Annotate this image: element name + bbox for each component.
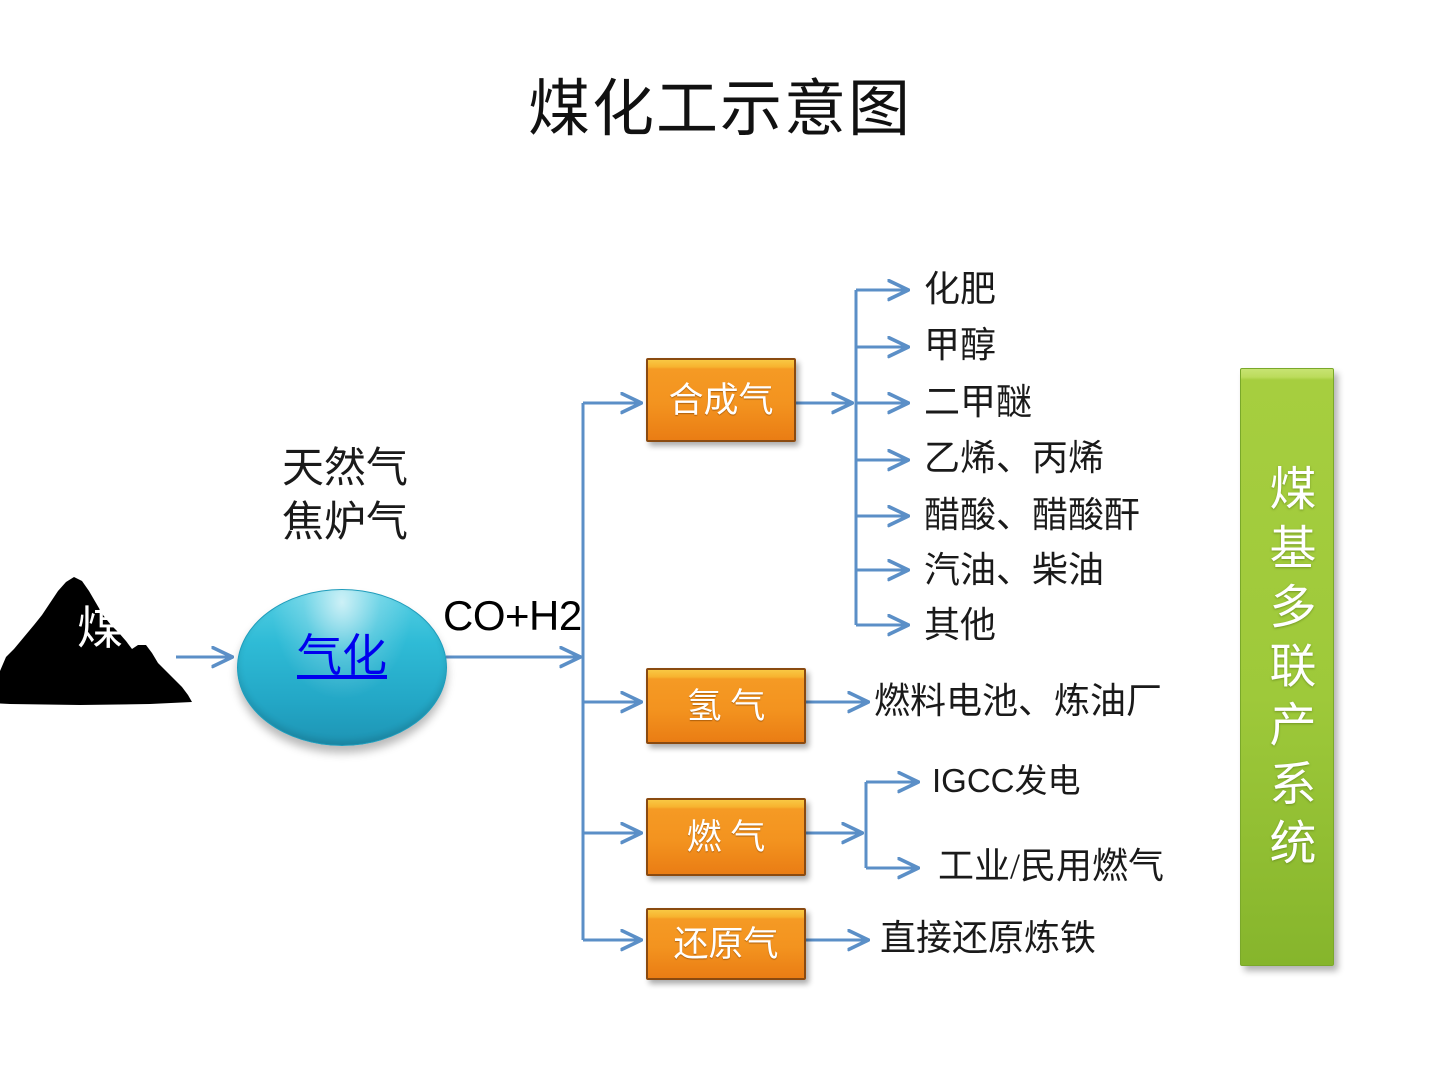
polygeneration-banner-label: 煤基多联产系统	[1264, 458, 1311, 877]
product-label-0: 化肥	[924, 271, 996, 307]
page-title: 煤化工示意图	[0, 78, 1440, 143]
polygeneration-banner: 煤基多联产系统	[1240, 368, 1334, 966]
redgas-product-label-0: 直接还原炼铁	[880, 920, 1096, 956]
feedstock-line-2: 焦炉气	[245, 497, 445, 551]
gasification-label[interactable]: 气化	[238, 634, 446, 679]
slide-canvas: 煤化工示意图	[0, 0, 1440, 1077]
product-label-4: 醋酸、醋酸酐	[924, 497, 1140, 533]
fuelgas-product-label-0: IGCC发电	[932, 764, 1081, 797]
hydrogen-product-label-0: 燃料电池、炼油厂	[874, 683, 1162, 719]
process-box-hydrogen[interactable]: 氢 气	[646, 668, 806, 744]
product-label-2: 二甲醚	[924, 384, 1032, 420]
product-label-3: 乙烯、丙烯	[924, 440, 1104, 476]
syngas-stream-label: CO+H2	[443, 592, 582, 640]
process-box-syngas-label: 合成气	[668, 383, 773, 418]
feedstock-line-1: 天然气	[245, 443, 445, 497]
fuelgas-product-label-1: 工业/民用燃气	[938, 848, 1164, 884]
process-box-syngas[interactable]: 合成气	[646, 358, 796, 442]
product-label-1: 甲醇	[924, 327, 996, 363]
process-box-fuelgas[interactable]: 燃 气	[646, 798, 806, 876]
product-label-6: 其他	[924, 607, 996, 643]
process-box-hydrogen-label: 氢 气	[687, 689, 766, 724]
process-box-fuelgas-label: 燃 气	[687, 820, 766, 855]
feedstock-note: 天然气 焦炉气	[245, 443, 445, 551]
process-box-redgas[interactable]: 还原气	[646, 908, 806, 980]
gasification-node[interactable]: 气化	[237, 589, 447, 746]
product-label-5: 汽油、柴油	[924, 552, 1104, 588]
process-box-redgas-label: 还原气	[673, 927, 778, 962]
coal-label: 煤	[40, 606, 160, 652]
